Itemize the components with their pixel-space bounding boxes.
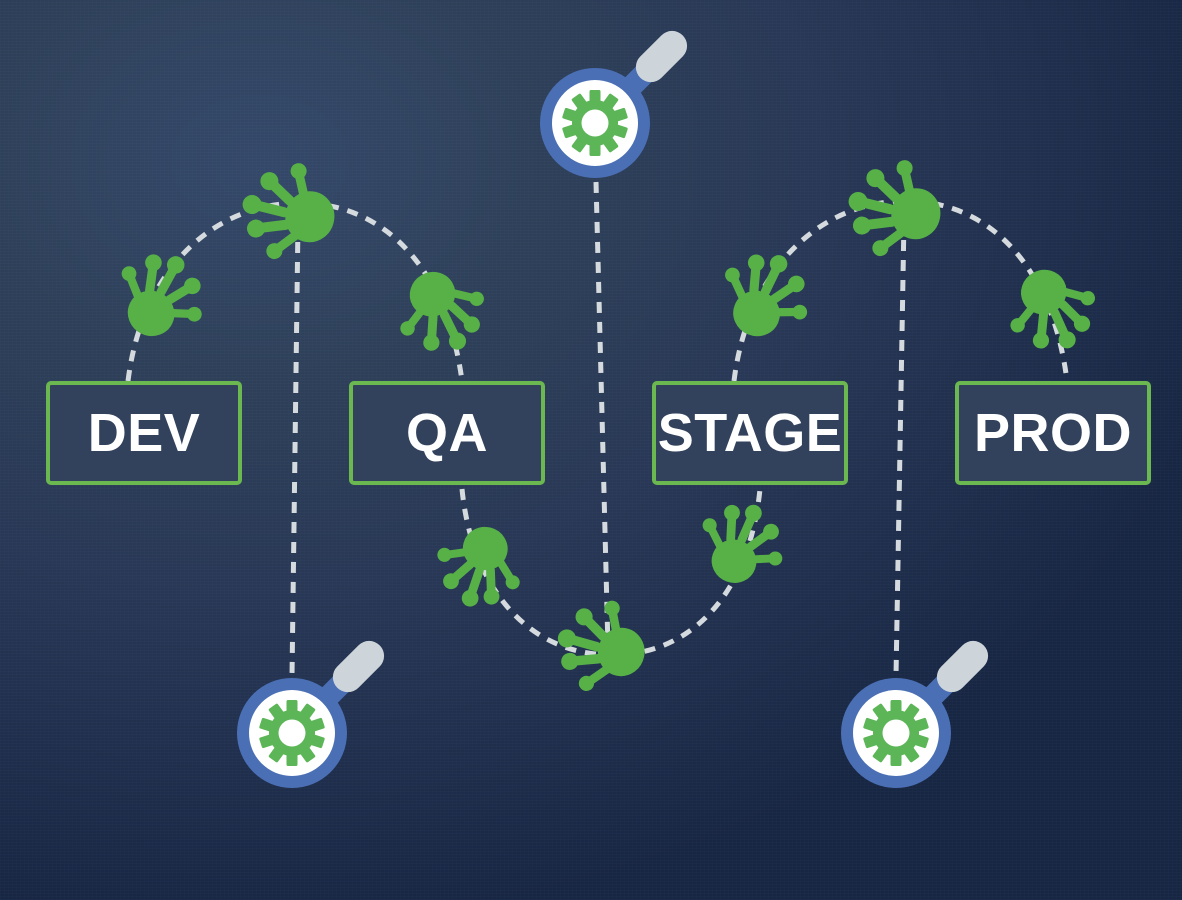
env-box-qa[interactable]: QA <box>349 381 545 485</box>
footprint-stage-valley-out <box>687 491 796 597</box>
env-label-dev: DEV <box>88 406 201 460</box>
footprint-valley-bottom <box>549 592 654 701</box>
magnifier-gear-icon[interactable] <box>540 25 693 178</box>
env-box-stage[interactable]: STAGE <box>652 381 848 485</box>
footprint-qa-valley-in <box>427 517 531 618</box>
env-label-qa: QA <box>406 406 488 460</box>
magnifier-gear-icon[interactable] <box>841 635 994 788</box>
path-line-magnifier-bottom-right <box>896 220 904 676</box>
footprint-arc1-apex <box>235 155 343 267</box>
diagram-canvas: DEV QA STAGE PROD <box>0 0 1182 900</box>
magnifier-gear-icon[interactable] <box>237 635 390 788</box>
footprint-prod-descend <box>994 253 1111 368</box>
path-line-magnifier-bottom-left <box>292 222 298 676</box>
env-box-prod[interactable]: PROD <box>955 381 1151 485</box>
env-box-dev[interactable]: DEV <box>46 381 242 485</box>
footprint-arc3-apex <box>841 152 949 264</box>
footprint-dev-ascend <box>102 238 219 353</box>
env-label-prod: PROD <box>974 406 1132 460</box>
env-label-stage: STAGE <box>658 406 843 460</box>
path-line-magnifier-top-center <box>596 182 608 648</box>
footprint-stage-ascend <box>708 239 823 351</box>
footprint-qa-descend <box>382 254 500 370</box>
